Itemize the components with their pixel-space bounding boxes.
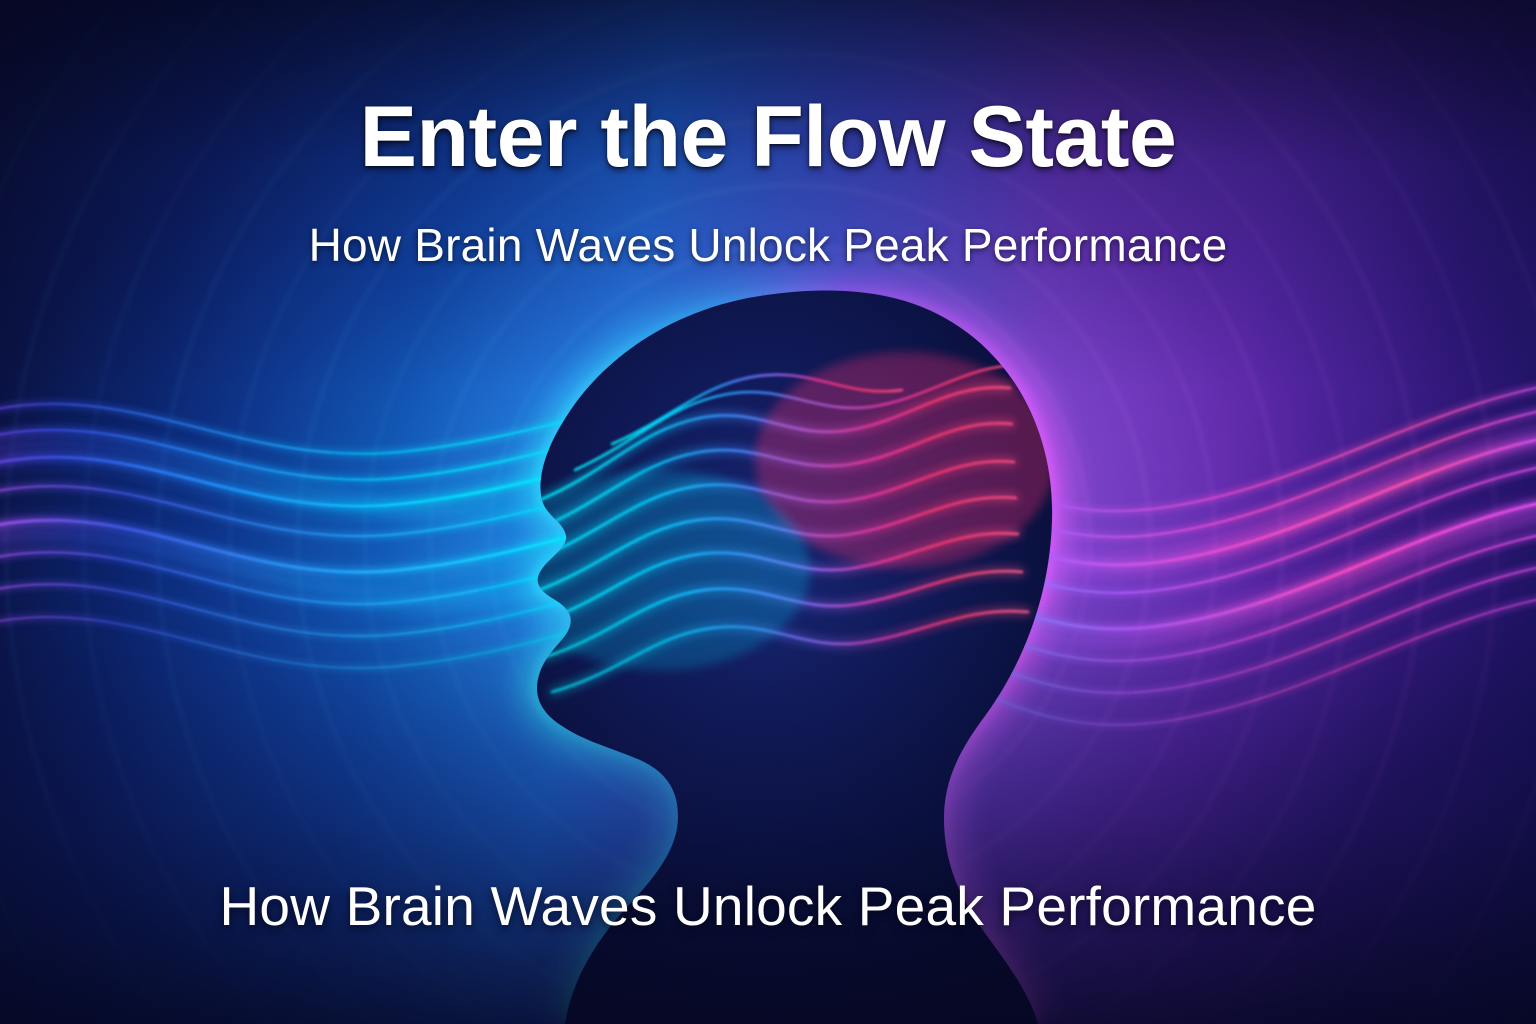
poster-canvas: Enter the Flow State How Brain Waves Unl… (0, 0, 1536, 1024)
page-title: Enter the Flow State (0, 88, 1536, 187)
page-subtitle: How Brain Waves Unlock Peak Performance (0, 218, 1536, 272)
footer-caption: How Brain Waves Unlock Peak Performance (0, 874, 1536, 938)
